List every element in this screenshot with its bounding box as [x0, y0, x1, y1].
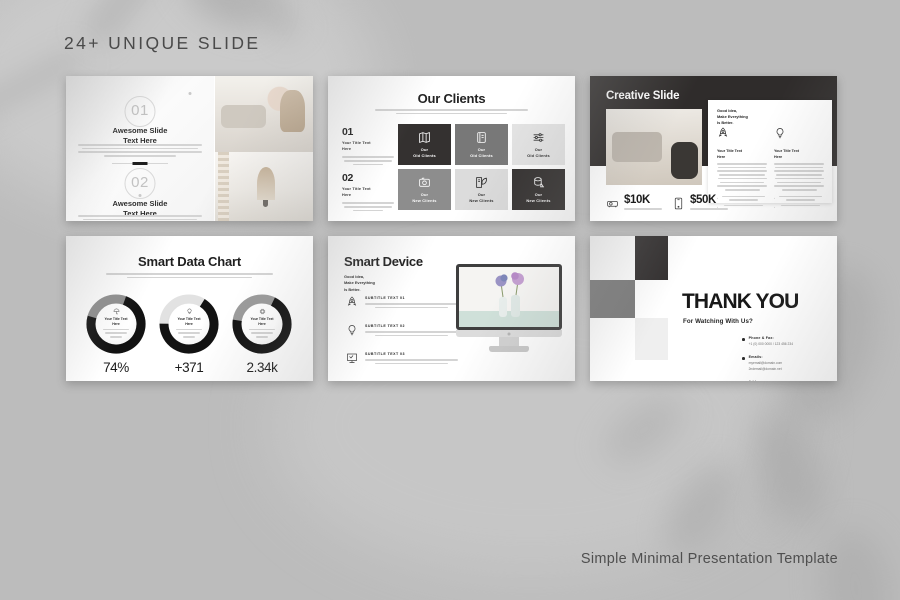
thank-you-contact-list: Phone & Fax: +1 (0) 000 0000 / 123 456 2…	[742, 336, 828, 381]
donut-chart-1: Your Title Text Here	[85, 293, 147, 355]
slide-awesome-slide[interactable]: 01 Awesome Slide Text Here 02 Awesome Sl…	[66, 76, 313, 221]
creative-stat-2-value: $50K	[690, 195, 728, 207]
donut-chart-1-value: 74%	[85, 360, 147, 375]
slide1-heading-1-line1: Awesome Slide	[113, 126, 168, 135]
contact-email-value-1: myemail@domain.com	[749, 361, 783, 367]
our-clients-col-2-number: 02	[342, 172, 394, 184]
our-clients-column-1: 01 Your Title Text Here	[342, 126, 394, 167]
creative-bedroom-photo	[606, 109, 702, 185]
slide1-body-2	[78, 215, 202, 221]
thank-you-title: THANK YOU	[682, 290, 798, 314]
smart-device-item-1[interactable]: SUBTITLE TEXT 01	[346, 296, 458, 310]
page-title: 24+ UNIQUE SLIDE	[64, 33, 260, 54]
page-caption: Simple Minimal Presentation Template	[581, 551, 838, 567]
client-card-6[interactable]: Our New Clients	[512, 169, 565, 210]
projector-icon	[606, 197, 619, 210]
slide1-body-1	[78, 144, 202, 159]
donut-chart-3-title: Your Title Text Here	[251, 317, 274, 327]
slide1-photo-figure	[263, 184, 268, 207]
our-clients-subtext	[375, 109, 528, 116]
slide1-photo-bedroom	[215, 76, 313, 152]
client-card-5[interactable]: Our New Clients	[455, 169, 508, 210]
mobile-icon	[672, 197, 685, 210]
smart-device-item-3[interactable]: SUBTITLE TEXT 03	[346, 352, 458, 366]
creative-slide-title: Creative Slide	[606, 90, 679, 102]
slide-smart-device[interactable]: Smart Device Good Idea, Make Everything …	[328, 236, 575, 381]
paper-roll-icon	[532, 176, 545, 189]
donut-chart-2-value: +371	[158, 360, 220, 375]
monitor-chin	[456, 330, 562, 337]
donut-chart-3: Your Title Text Here	[231, 293, 293, 355]
donut-chart-2-title: Your Title Text Here	[178, 317, 201, 327]
creative-panel-heading: Good Idea, Make Everything Is Better.	[717, 108, 748, 126]
creative-feature-1-title: Your Title Text Here	[717, 149, 767, 160]
rocket-icon	[346, 296, 358, 308]
monitor-frame	[456, 264, 562, 330]
client-card-2-label: Our Old Clients	[470, 147, 493, 158]
client-card-2[interactable]: Our Old Clients	[455, 124, 508, 165]
client-card-3-label: Our Old Clients	[527, 147, 550, 158]
bulb-icon	[186, 308, 193, 315]
smart-device-item-2-subtitle: SUBTITLE TEXT 02	[365, 324, 458, 328]
contact-address-label: Address:	[749, 380, 790, 381]
contact-phone-label: Phone & Fax:	[749, 336, 793, 340]
contact-email-value-2: 2ndemail@domain.net	[749, 367, 783, 373]
client-card-1[interactable]: Our Old Clients	[398, 124, 451, 165]
map-icon	[418, 131, 431, 144]
contact-phone: Phone & Fax: +1 (0) 000 0000 / 123 456 2…	[742, 336, 828, 347]
smart-device-item-2[interactable]: SUBTITLE TEXT 02	[346, 324, 458, 338]
thank-you-light-block	[635, 318, 668, 360]
contact-address: Address: 560 Cobra Street, NY World	[742, 380, 828, 381]
slide-creative-slide[interactable]: Creative Slide Good Idea, Make Everythin…	[590, 76, 837, 221]
donut-chart-2-inner: Your Title Text Here	[169, 304, 209, 344]
slide1-dot-2	[139, 194, 142, 197]
slide1-photo-hallway	[215, 152, 313, 221]
chip-icon	[259, 308, 266, 315]
creative-info-panel: Good Idea, Make Everything Is Better. Yo…	[708, 100, 832, 203]
bulb-icon	[774, 127, 786, 139]
monitor-screen-flower-vases	[459, 267, 559, 327]
creative-stat-1: $10K	[606, 195, 662, 212]
thank-you-dark-block	[635, 236, 668, 280]
smart-data-chart-subtext	[106, 273, 274, 280]
thank-you-gray-block	[590, 280, 635, 318]
donut-chart-3-inner: Your Title Text Here	[242, 304, 282, 344]
board-icon	[346, 352, 358, 364]
client-card-1-label: Our Old Clients	[413, 147, 436, 158]
client-card-6-label: Our New Clients	[526, 192, 550, 203]
rocket-icon	[717, 127, 729, 139]
slide1-divider	[112, 163, 168, 164]
smart-device-title: Smart Device	[344, 254, 423, 269]
client-card-4[interactable]: Our New Clients	[398, 169, 451, 210]
slide1-dot-1	[188, 92, 191, 95]
slide1-number-2: 02	[131, 174, 149, 191]
flower-vases-photo	[459, 267, 559, 327]
sliders-icon	[532, 131, 545, 144]
slide-thank-you[interactable]: THANK YOU For Watching With Us? Phone & …	[590, 236, 837, 381]
creative-stat-2: $50K	[672, 195, 728, 212]
contact-phone-value: +1 (0) 000 0000 / 123 456 234	[749, 342, 793, 348]
leaf-book-icon	[475, 176, 488, 189]
donut-chart-3-value: 2.34k	[231, 360, 293, 375]
our-clients-title: Our Clients	[328, 91, 575, 106]
smart-device-kicker: Good Idea, Make Everything Is Better.	[344, 274, 375, 293]
camera-icon	[418, 176, 431, 189]
monitor-base	[489, 346, 529, 352]
contact-email: Emails: myemail@domain.com 2ndemail@doma…	[742, 355, 828, 372]
umbrella-icon	[113, 308, 120, 315]
our-clients-col-1-number: 01	[342, 126, 394, 138]
creative-stat-1-value: $10K	[624, 195, 662, 207]
client-card-5-label: Our New Clients	[469, 192, 493, 203]
monitor-neck	[499, 337, 519, 346]
our-clients-col-2-title: Your Title Text Here	[342, 187, 394, 198]
smart-device-item-1-subtitle: SUBTITLE TEXT 01	[365, 296, 458, 300]
slide1-number-1: 01	[131, 102, 149, 119]
bulb-icon	[346, 324, 358, 336]
donut-chart-1-inner: Your Title Text Here	[96, 304, 136, 344]
bullet-icon	[742, 357, 745, 360]
slide-our-clients[interactable]: Our Clients 01 Your Title Text Here 02	[328, 76, 575, 221]
creative-feature-2: Your Title Text Here › ›	[774, 126, 824, 209]
smart-data-chart-title: Smart Data Chart	[66, 254, 313, 269]
slide1-heading-2-line1: Awesome Slide	[113, 199, 168, 208]
client-card-4-label: Our New Clients	[412, 192, 436, 203]
our-clients-col-1-title: Your Title Text Here	[342, 141, 394, 152]
our-clients-column-2: 02 Your Title Text Here	[342, 172, 394, 213]
donut-chart-2: Your Title Text Here	[158, 293, 220, 355]
smart-device-monitor	[456, 264, 562, 352]
slide-row-2: Smart Data Chart Your Title Text H	[66, 236, 838, 381]
slide-row-1: 01 Awesome Slide Text Here 02 Awesome Sl…	[66, 76, 838, 221]
thank-you-subtitle: For Watching With Us?	[683, 318, 753, 325]
bullet-icon	[742, 338, 745, 341]
smart-device-item-3-subtitle: SUBTITLE TEXT 03	[365, 352, 458, 356]
our-clients-card-grid: Our Old Clients Our Old Clients	[398, 124, 565, 210]
slide-grid: 01 Awesome Slide Text Here 02 Awesome Sl…	[66, 76, 838, 381]
contact-email-label: Emails:	[749, 355, 783, 359]
notebook-icon	[475, 131, 488, 144]
slide-smart-data-chart[interactable]: Smart Data Chart Your Title Text H	[66, 236, 313, 381]
donut-chart-1-title: Your Title Text Here	[105, 317, 128, 327]
client-card-3[interactable]: Our Old Clients	[512, 124, 565, 165]
creative-feature-2-title: Your Title Text Here	[774, 149, 824, 160]
